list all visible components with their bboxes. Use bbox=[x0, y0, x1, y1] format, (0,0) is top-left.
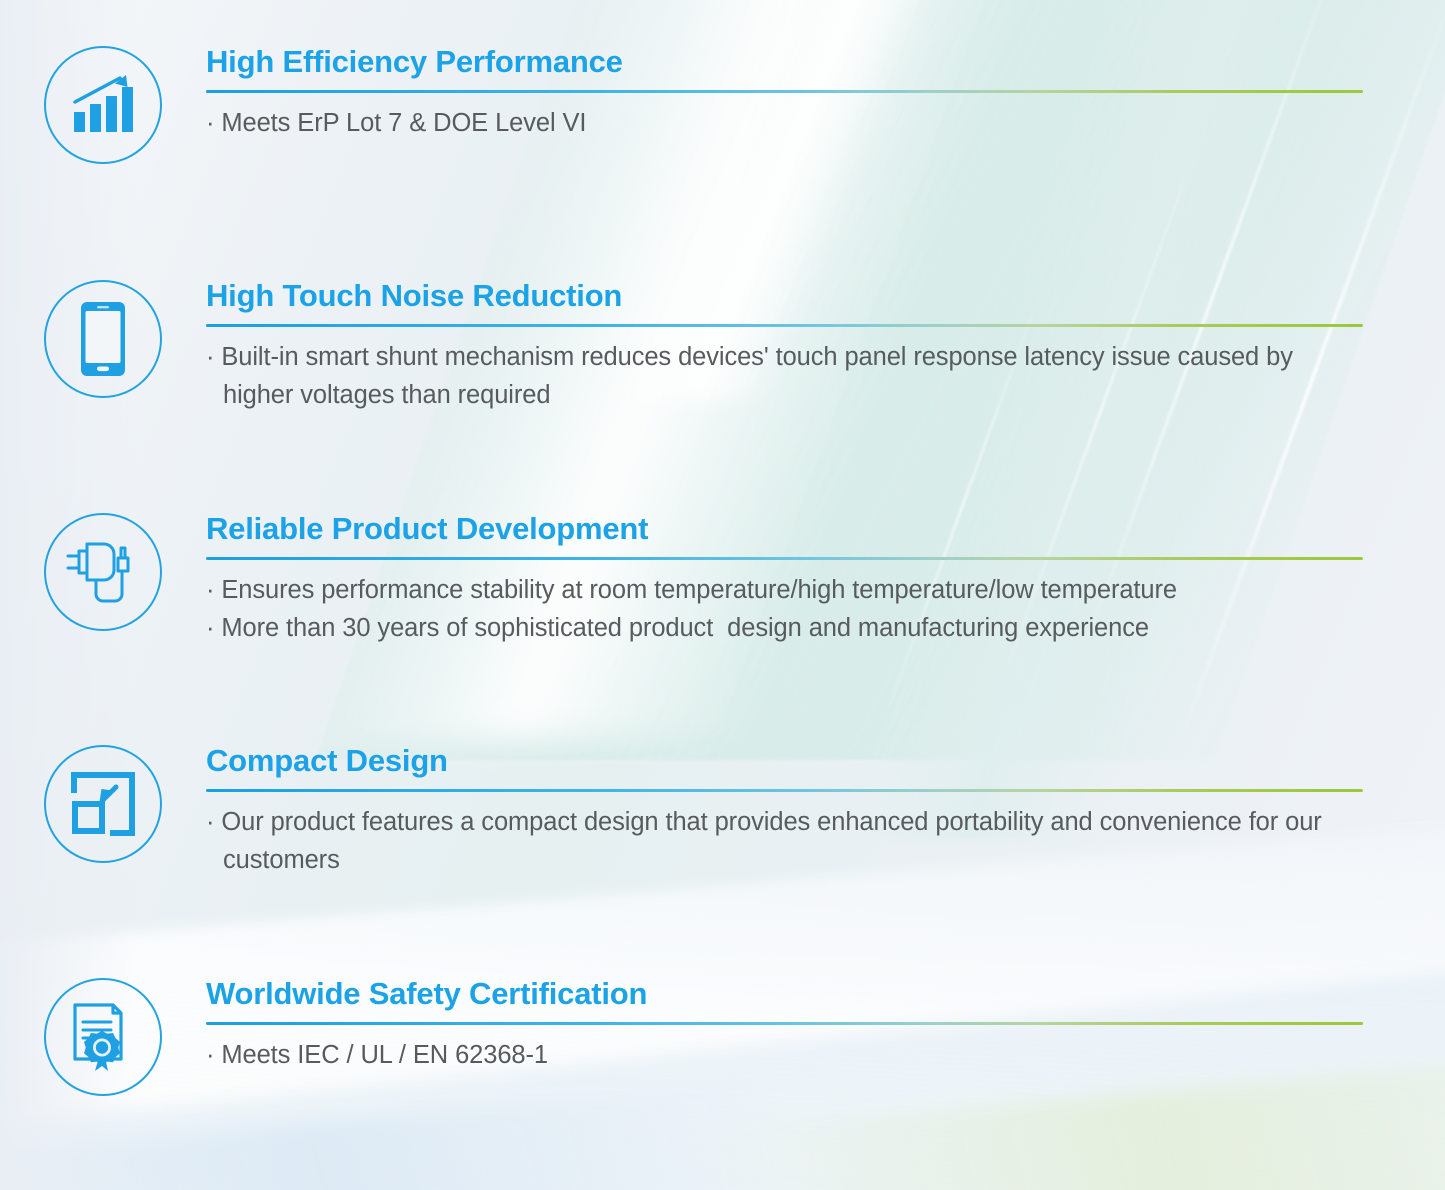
feature-bullet-line: · More than 30 years of sophisticated pr… bbox=[206, 610, 1365, 648]
feature-bullet-line: · Meets ErP Lot 7 & DOE Level VI bbox=[206, 105, 1365, 143]
feature-icon-container bbox=[0, 745, 206, 863]
feature-highlights-page: High Efficiency Performance · Meets ErP … bbox=[0, 0, 1445, 1190]
bar-chart-growth-icon bbox=[70, 74, 136, 136]
icon-circle bbox=[44, 280, 162, 398]
feature-list: High Efficiency Performance · Meets ErP … bbox=[0, 0, 1445, 1190]
feature-icon-container bbox=[0, 280, 206, 398]
feature-body: High Efficiency Performance · Meets ErP … bbox=[206, 46, 1445, 143]
feature-divider bbox=[206, 1022, 1363, 1025]
feature-divider bbox=[206, 324, 1363, 327]
feature-item-high-touch-noise-reduction: High Touch Noise Reduction · Built-in sm… bbox=[0, 280, 1445, 414]
feature-bullet-line: · Our product features a compact design … bbox=[206, 804, 1365, 879]
compact-resize-icon bbox=[70, 771, 136, 837]
feature-item-reliable-product-development: Reliable Product Development · Ensures p… bbox=[0, 513, 1445, 647]
feature-item-compact-design: Compact Design · Our product features a … bbox=[0, 745, 1445, 879]
feature-body: Worldwide Safety Certification · Meets I… bbox=[206, 978, 1445, 1075]
feature-bullet-line: · Meets IEC / UL / EN 62368-1 bbox=[206, 1037, 1365, 1075]
icon-circle bbox=[44, 745, 162, 863]
feature-lines: · Built-in smart shunt mechanism reduces… bbox=[206, 339, 1365, 414]
feature-body: Compact Design · Our product features a … bbox=[206, 745, 1445, 879]
feature-item-worldwide-safety-certification: Worldwide Safety Certification · Meets I… bbox=[0, 978, 1445, 1096]
feature-divider bbox=[206, 789, 1363, 792]
feature-divider bbox=[206, 557, 1363, 560]
feature-title: High Touch Noise Reduction bbox=[206, 280, 1365, 313]
feature-lines: · Meets IEC / UL / EN 62368-1 bbox=[206, 1037, 1365, 1075]
feature-lines: · Ensures performance stability at room … bbox=[206, 572, 1365, 647]
feature-divider bbox=[206, 90, 1363, 93]
feature-item-high-efficiency-performance: High Efficiency Performance · Meets ErP … bbox=[0, 46, 1445, 164]
feature-lines: · Meets ErP Lot 7 & DOE Level VI bbox=[206, 105, 1365, 143]
feature-lines: · Our product features a compact design … bbox=[206, 804, 1365, 879]
feature-title: Worldwide Safety Certification bbox=[206, 978, 1365, 1011]
icon-circle bbox=[44, 46, 162, 164]
feature-icon-container bbox=[0, 46, 206, 164]
feature-bullet-line: · Built-in smart shunt mechanism reduces… bbox=[206, 339, 1365, 414]
feature-icon-container bbox=[0, 513, 206, 631]
feature-title: Reliable Product Development bbox=[206, 513, 1365, 546]
feature-bullet-line: · Ensures performance stability at room … bbox=[206, 572, 1365, 610]
feature-body: Reliable Product Development · Ensures p… bbox=[206, 513, 1445, 647]
smartphone-icon bbox=[80, 301, 126, 377]
certificate-seal-icon bbox=[69, 1001, 137, 1073]
icon-circle bbox=[44, 513, 162, 631]
power-adapter-icon bbox=[64, 536, 142, 608]
feature-icon-container bbox=[0, 978, 206, 1096]
feature-body: High Touch Noise Reduction · Built-in sm… bbox=[206, 280, 1445, 414]
feature-title: High Efficiency Performance bbox=[206, 46, 1365, 79]
feature-title: Compact Design bbox=[206, 745, 1365, 778]
icon-circle bbox=[44, 978, 162, 1096]
